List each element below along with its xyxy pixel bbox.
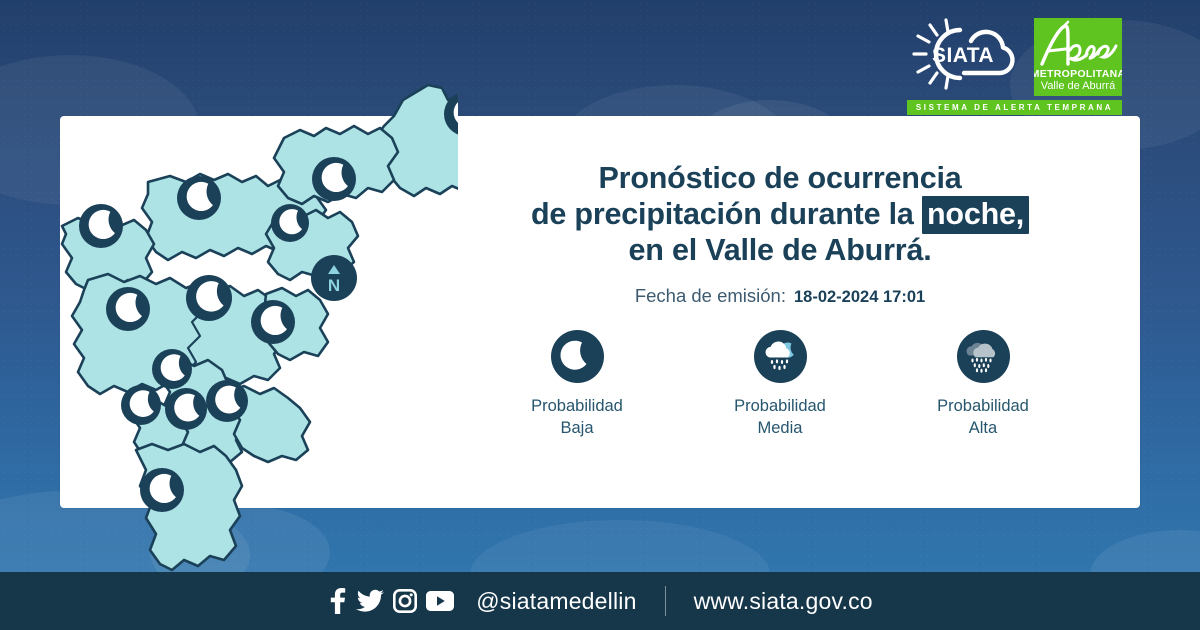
map-marker-medellin-norte[interactable] <box>106 287 150 331</box>
probability-legend: Probabilidad Baja <box>470 330 1090 439</box>
legend-label-alta-l2: Alta <box>937 417 1029 439</box>
legend-label-baja-l2: Baja <box>531 417 623 439</box>
map-marker-bello[interactable] <box>271 204 309 242</box>
facebook-icon[interactable] <box>327 588 347 614</box>
title-line-3: en el Valle de Aburrá. <box>470 232 1090 268</box>
compass-label: N <box>328 276 340 295</box>
brand-logos: SIATA METROPOLITANA Valle de Aburrá SIST… <box>907 18 1122 115</box>
logo-row: SIATA METROPOLITANA Valle de Aburrá <box>908 18 1122 96</box>
legend-label-alta: Probabilidad Alta <box>937 395 1029 439</box>
ama-line-valle: Valle de Aburrá <box>1041 80 1115 92</box>
legend-label-media: Probabilidad Media <box>734 395 826 439</box>
social-handle[interactable]: @siatamedellin <box>476 588 636 615</box>
title-line-2-text: de precipitación durante la <box>531 197 914 231</box>
map-marker-caldas-south[interactable] <box>140 468 184 512</box>
footer-divider <box>665 586 666 616</box>
legend-item-baja: Probabilidad Baja <box>502 330 652 439</box>
siata-wordmark: SIATA <box>932 44 994 67</box>
map-marker-san-pedro[interactable] <box>79 204 123 248</box>
title-line-2: de precipitación durante la noche, <box>470 196 1090 232</box>
legend-label-alta-l1: Probabilidad <box>937 395 1029 417</box>
page-title: Pronóstico de ocurrencia de precipitació… <box>470 160 1090 268</box>
moon-icon <box>551 330 604 383</box>
infographic-root: SIATA METROPOLITANA Valle de Aburrá SIST… <box>0 0 1200 630</box>
footer-bar: @siatamedellin www.siata.gov.co <box>0 572 1200 630</box>
headline-block: Pronóstico de ocurrencia de precipitació… <box>470 160 1090 307</box>
title-highlight-noche: noche, <box>922 196 1029 234</box>
map-marker-itagui[interactable] <box>152 349 192 389</box>
youtube-icon[interactable] <box>426 591 454 611</box>
legend-item-alta: Probabilidad Alta <box>908 330 1058 439</box>
cloud-rain-moon-icon <box>754 330 807 383</box>
title-line-1: Pronóstico de ocurrencia <box>470 160 1090 196</box>
emission-date-label: Fecha de emisión: <box>635 285 786 307</box>
map-marker-caldas-north[interactable] <box>206 380 248 422</box>
area-script-icon <box>1034 18 1122 74</box>
emission-date-row: Fecha de emisión: 18-02-2024 17:01 <box>470 285 1090 307</box>
map-svg: N <box>28 30 458 590</box>
valle-de-aburra-map: N <box>28 30 458 590</box>
legend-item-media: Probabilidad Media <box>705 330 855 439</box>
legend-label-media-l1: Probabilidad <box>734 395 826 417</box>
legend-label-baja-l1: Probabilidad <box>531 395 623 417</box>
map-marker-medellin-centro[interactable] <box>186 275 232 321</box>
map-marker-envigado[interactable] <box>251 300 295 344</box>
map-marker-sabaneta[interactable] <box>121 385 161 425</box>
area-metropolitana-logo: METROPOLITANA Valle de Aburrá <box>1034 18 1122 96</box>
social-icons <box>327 588 454 614</box>
map-marker-girardota[interactable] <box>177 176 221 220</box>
sun-cloud-icon: SIATA <box>908 18 1026 90</box>
tagline-bar: SISTEMA DE ALERTA TEMPRANA <box>907 100 1122 115</box>
instagram-icon[interactable] <box>393 589 417 613</box>
compass-north-icon: N <box>311 255 357 301</box>
twitter-icon[interactable] <box>356 589 384 613</box>
website-url[interactable]: www.siata.gov.co <box>694 588 873 615</box>
map-marker-la-estrella[interactable] <box>165 388 207 430</box>
legend-label-baja: Probabilidad Baja <box>531 395 623 439</box>
map-marker-copacabana[interactable] <box>312 157 356 201</box>
emission-date-value: 18-02-2024 17:01 <box>794 288 925 307</box>
legend-label-media-l2: Media <box>734 417 826 439</box>
cloud-heavy-rain-icon <box>957 330 1010 383</box>
tagline-text: SISTEMA DE ALERTA TEMPRANA <box>916 103 1113 112</box>
